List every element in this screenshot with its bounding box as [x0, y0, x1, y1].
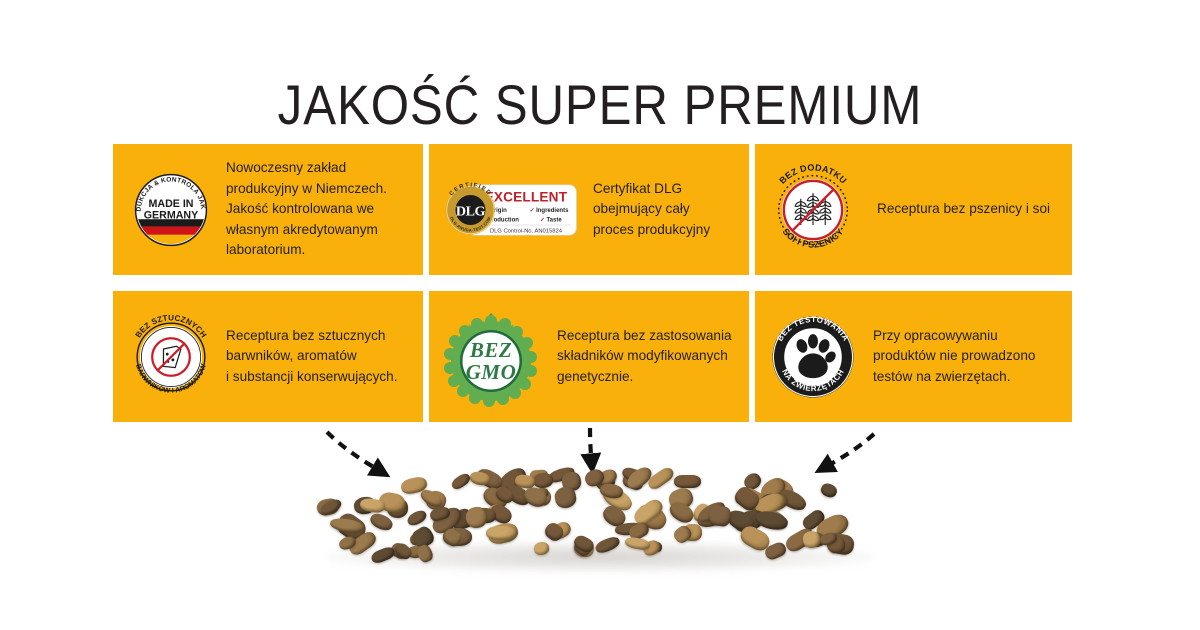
feature-card-grid: PRODUKCJA & KONTROLA JAKOŚCI MADE IN GER…: [113, 144, 1072, 422]
bez-gmo-line2: GMO: [466, 360, 517, 384]
no-soy-no-wheat-badge: BEZ DODATKU SOI I PSZENICY: [765, 162, 861, 258]
kibble-piece: [532, 472, 553, 488]
no-artificial-colours-badge-graphic: BEZ SZTUCZNYCH BARWNIKÓW I AROMATÓW: [124, 310, 218, 404]
page-title: JAKOŚĆ SUPER PREMIUM: [72, 72, 1128, 137]
card-made-in-germany[interactable]: PRODUKCJA & KONTROLA JAKOŚCI MADE IN GER…: [113, 144, 423, 275]
kibble-piece: [449, 471, 472, 491]
kibble-pile: [300, 455, 900, 600]
bez-gmo-line1: BEZ: [469, 338, 512, 362]
card-text-no-gmo: Receptura bez zastosowania składników mo…: [543, 326, 741, 388]
card-dlg-certificate[interactable]: EXCELLENT ✓Origin ✓Ingredients ✓Producti…: [429, 144, 749, 275]
card-no-soy-no-wheat[interactable]: BEZ DODATKU SOI I PSZENICY Receptura bez…: [755, 144, 1072, 275]
no-artificial-colours-badge: BEZ SZTUCZNYCH BARWNIKÓW I AROMATÓW: [123, 309, 219, 405]
kibble-piece: [415, 543, 435, 564]
kibble-piece: [370, 545, 397, 565]
card-text-dlg: Certyfikat DLG obejmujący cały proces pr…: [579, 179, 741, 241]
dlg-headline: EXCELLENT: [485, 189, 568, 204]
kibble-piece: [673, 475, 700, 488]
no-animal-testing-badge: BEZ TESTOWANIA NA ZWIERZĘTACH: [765, 309, 861, 405]
kibble-piece: [486, 526, 516, 540]
infographic-page: JAKOŚĆ SUPER PREMIUM: [0, 0, 1200, 630]
dlg-check-ingredients: ✓Ingredients: [530, 207, 569, 213]
kibble-piece: [624, 536, 650, 551]
card-text-no-animal-testing: Przy opracowywaniu produktów nie prowadz…: [861, 326, 1064, 388]
dlg-excellent-badge: EXCELLENT ✓Origin ✓Ingredients ✓Producti…: [439, 162, 579, 258]
card-text-no-artificial-colours: Receptura bez sztucznych barwników, arom…: [219, 326, 415, 388]
kibble-piece: [533, 541, 550, 556]
dlg-check-taste: ✓Taste: [540, 217, 562, 223]
made-in-germany-badge-graphic: PRODUKCJA & KONTROLA JAKOŚCI MADE IN GER…: [125, 164, 217, 256]
kibble-piece: [754, 509, 790, 532]
card-no-gmo[interactable]: BEZ GMO Receptura bez zastosowania skład…: [429, 291, 749, 422]
card-no-artificial-colours[interactable]: BEZ SZTUCZNYCH BARWNIKÓW I AROMATÓW Rece…: [113, 291, 423, 422]
card-no-animal-testing[interactable]: BEZ TESTOWANIA NA ZWIERZĘTACH Przy oprac…: [755, 291, 1072, 422]
dlg-control-number: DLG Control-No. AN015824: [490, 228, 563, 234]
dlg-seal-mark: DLG: [456, 203, 486, 219]
made-in-germany-line2: GERMANY: [144, 209, 198, 221]
card-text-no-soy-no-wheat: Receptura bez pszenicy i soi: [861, 199, 1064, 220]
kibble-piece: [708, 505, 732, 528]
made-in-germany-badge: PRODUKCJA & KONTROLA JAKOŚCI MADE IN GER…: [123, 162, 219, 258]
kibble-pieces: [300, 455, 900, 600]
no-soy-no-wheat-badge-graphic: BEZ DODATKU SOI I PSZENICY: [766, 163, 860, 257]
bez-gmo-badge-graphic: BEZ GMO: [439, 305, 543, 409]
bez-gmo-badge: BEZ GMO: [439, 305, 543, 409]
card-text-made-in-germany: Nowoczesny zakład produkcyjny w Niemczec…: [219, 158, 415, 261]
kibble-piece: [819, 481, 839, 499]
kibble-piece: [594, 534, 621, 554]
dlg-excellent-badge-graphic: EXCELLENT ✓Origin ✓Ingredients ✓Producti…: [439, 179, 579, 241]
no-animal-testing-badge-graphic: BEZ TESTOWANIA NA ZWIERZĘTACH: [767, 311, 859, 403]
